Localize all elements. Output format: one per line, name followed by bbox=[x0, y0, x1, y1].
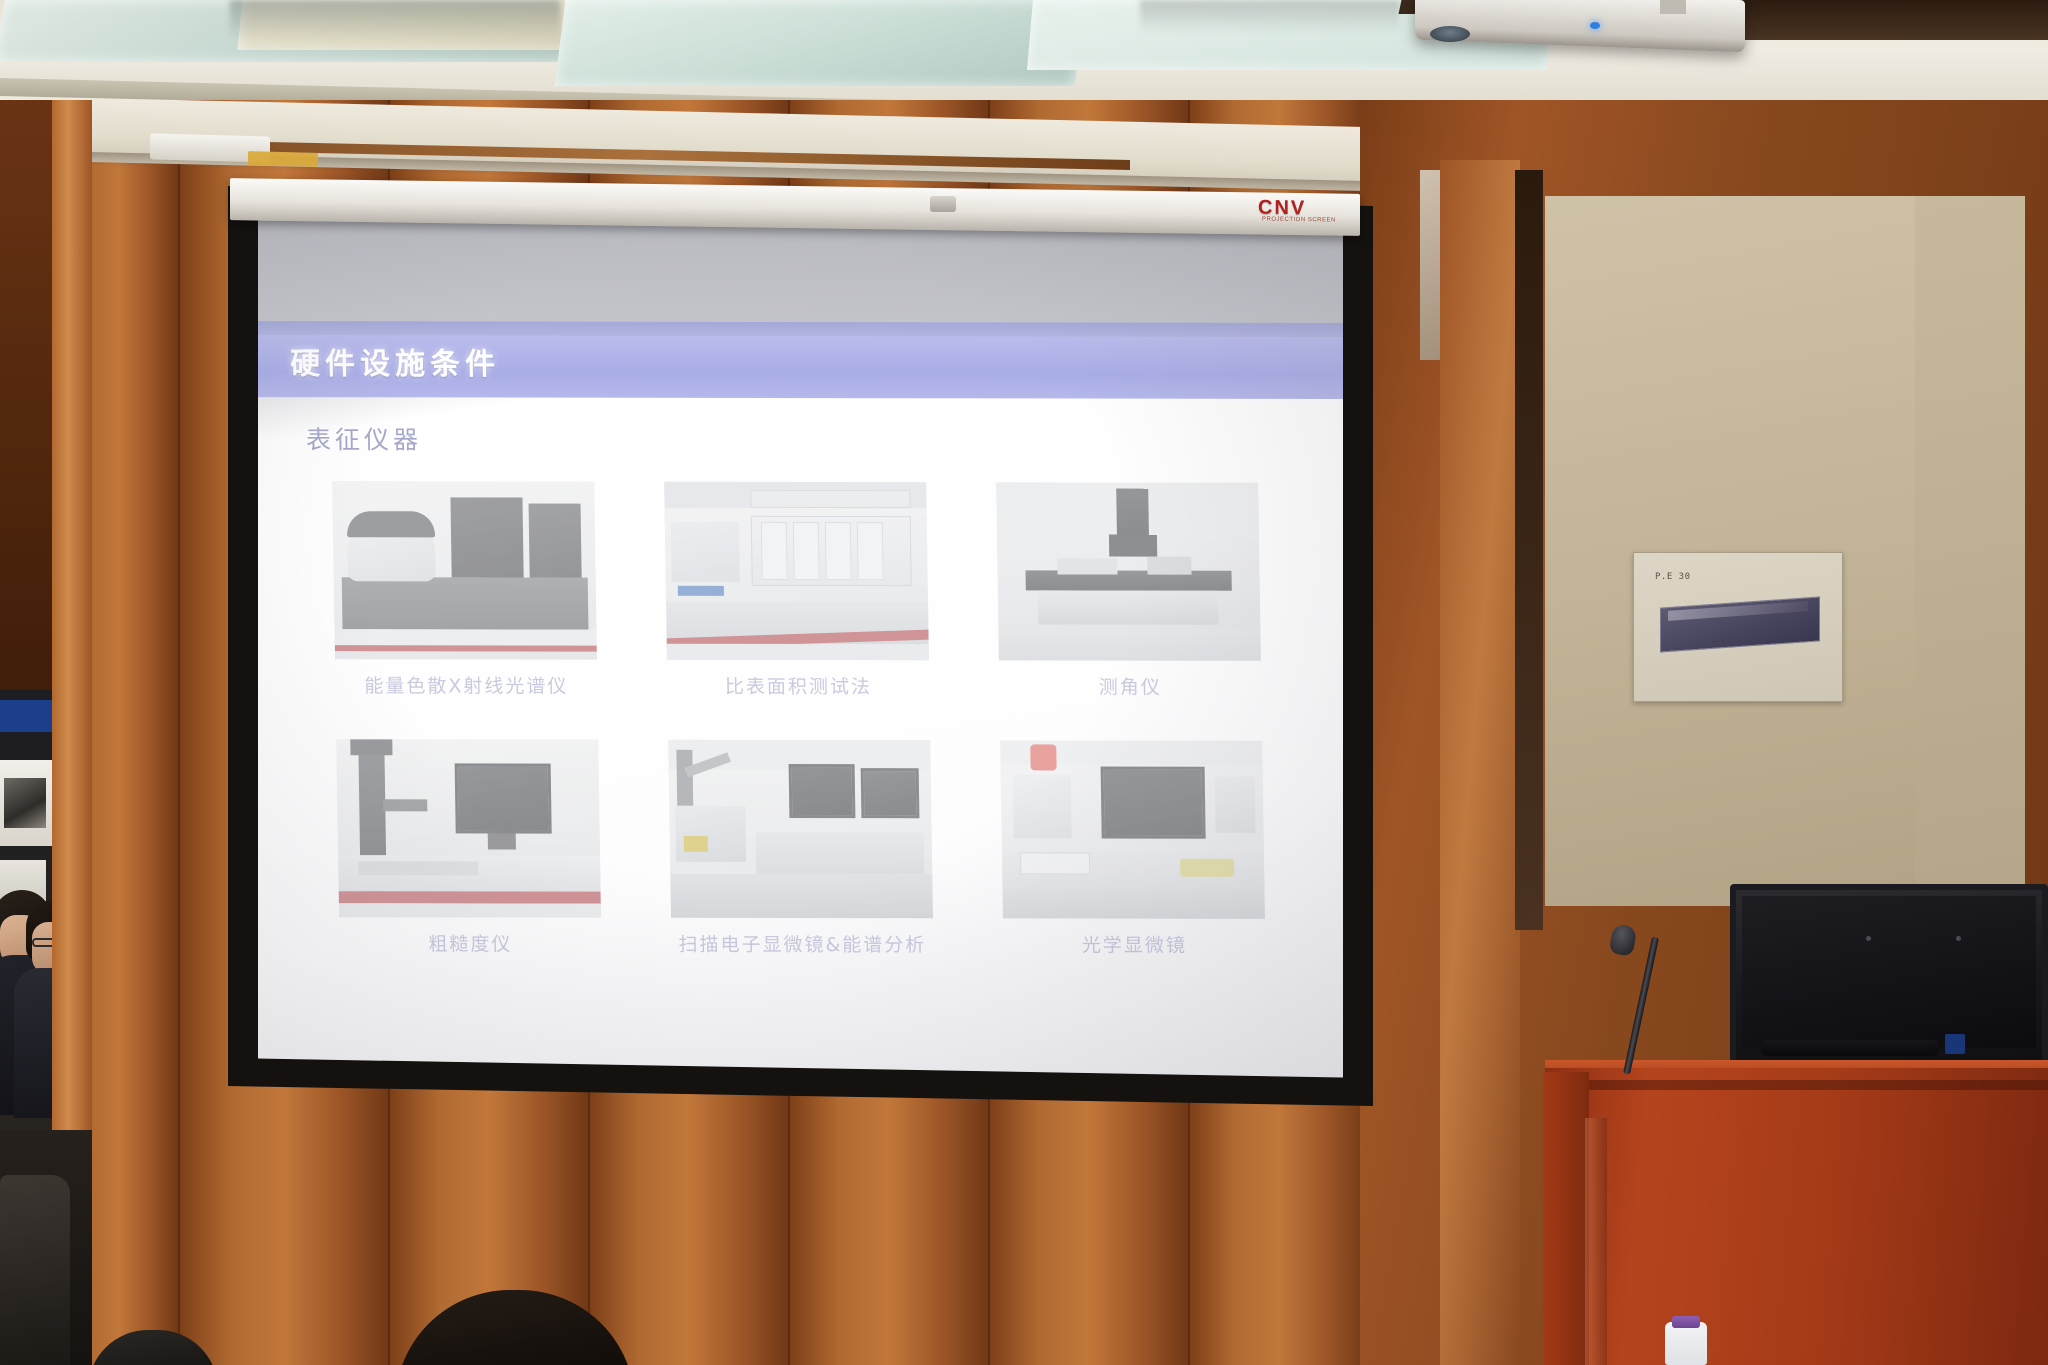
cnv-brand-sublabel: PROJECTION SCREEN bbox=[1262, 216, 1336, 223]
projector-mount bbox=[1660, 0, 1686, 14]
screen-vignette bbox=[258, 217, 1343, 1078]
screen-pull-knob[interactable] bbox=[930, 196, 956, 212]
projection-screen-surface: 硬件设施条件 表征仪器 bbox=[258, 217, 1343, 1078]
left-wall-dark bbox=[0, 100, 54, 700]
beige-wall-panel bbox=[1545, 196, 1915, 906]
wall-poster bbox=[0, 700, 52, 732]
projector-power-led-icon bbox=[1590, 22, 1600, 29]
monitor-port bbox=[1945, 1034, 1965, 1054]
ceiling-dark-corner bbox=[1740, 0, 2048, 40]
ceiling-reflection bbox=[1140, 0, 1400, 34]
bottle-cap bbox=[1672, 1316, 1700, 1328]
conference-room-photo: P.E 30 硬件设施条件 表征仪器 bbox=[0, 0, 2048, 1365]
audience-chair bbox=[0, 1175, 70, 1365]
ceiling-reflection bbox=[230, 0, 560, 40]
bracket-warning-label bbox=[248, 151, 318, 167]
ceiling-panel bbox=[555, 0, 1086, 86]
monitor-sensor-icon bbox=[1956, 936, 1961, 941]
monitor-cable bbox=[1760, 1040, 1940, 1056]
beige-wall-panel bbox=[1915, 196, 2025, 906]
poster-image bbox=[4, 778, 46, 828]
water-bottle[interactable] bbox=[1665, 1322, 1707, 1365]
monitor-screen bbox=[1742, 896, 2036, 1048]
presenter bbox=[1480, 810, 1760, 1280]
projector-lens-icon bbox=[1430, 26, 1470, 42]
wall-plate-label: P.E 30 bbox=[1655, 572, 1691, 582]
monitor-sensor-icon bbox=[1866, 936, 1871, 941]
